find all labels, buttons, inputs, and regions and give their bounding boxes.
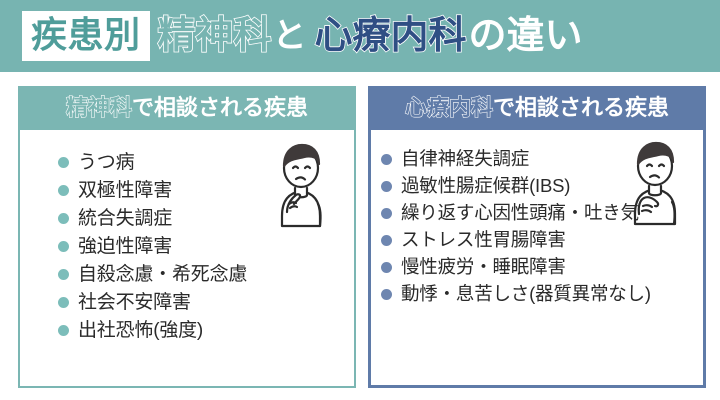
- list-item[interactable]: 慢性疲労・睡眠障害: [381, 254, 703, 281]
- panel-psychiatry-header-rest: で相談される疾患: [132, 97, 308, 119]
- panel-psychiatry-body: うつ病 双極性障害 統合失調症 強迫性障害 自殺念慮・希死念慮: [18, 130, 356, 388]
- list-item[interactable]: 統合失調症: [58, 204, 354, 232]
- list-item[interactable]: 過敏性腸症候群(IBS): [381, 173, 703, 200]
- panel-psychosomatic: 心療内科 で相談される疾患: [368, 86, 706, 388]
- title-word-difference: の違い: [469, 17, 583, 55]
- bullet-icon: [58, 213, 69, 224]
- title-band: 疾患別 精神科 と 心療内科 の違い: [0, 0, 720, 72]
- list-item[interactable]: 自律神経失調症: [381, 146, 703, 173]
- panel-psychiatry-header: 精神科 で相談される疾患: [18, 86, 356, 130]
- list-item[interactable]: 強迫性障害: [58, 232, 354, 260]
- bullet-icon: [58, 157, 69, 168]
- bullet-icon: [381, 181, 392, 192]
- list-item[interactable]: うつ病: [58, 148, 354, 176]
- bullet-icon: [58, 297, 69, 308]
- psychiatry-condition-list: うつ病 双極性障害 統合失調症 強迫性障害 自殺念慮・希死念慮: [20, 130, 354, 344]
- infographic-page: 疾患別 精神科 と 心療内科 の違い 精神科 で相談される疾患: [0, 0, 720, 400]
- list-item[interactable]: 出社恐怖(強度): [58, 316, 354, 344]
- list-item-label: 自殺念慮・希死念慮: [78, 265, 247, 284]
- list-item-label: うつ病: [78, 153, 134, 172]
- list-item[interactable]: 動悸・息苦しさ(器質異常なし): [381, 281, 703, 308]
- bullet-icon: [381, 262, 392, 273]
- list-item-label: 社会不安障害: [78, 293, 191, 312]
- list-item-label: 慢性疲労・睡眠障害: [401, 258, 566, 277]
- list-item-label: 統合失調症: [78, 209, 172, 228]
- bullet-icon: [58, 185, 69, 196]
- bullet-icon: [58, 269, 69, 280]
- psychosomatic-condition-list: 自律神経失調症 過敏性腸症候群(IBS) 繰り返す心因性頭痛・吐き気 ストレス性…: [371, 130, 703, 308]
- list-item-label: 出社恐怖(強度): [78, 321, 203, 340]
- list-item-label: 自律神経失調症: [401, 150, 529, 169]
- list-item-label: 強迫性障害: [78, 237, 172, 256]
- list-item[interactable]: 社会不安障害: [58, 288, 354, 316]
- bullet-icon: [58, 241, 69, 252]
- list-item[interactable]: ストレス性胃腸障害: [381, 227, 703, 254]
- panel-psychosomatic-header: 心療内科 で相談される疾患: [368, 86, 706, 130]
- list-item[interactable]: 自殺念慮・希死念慮: [58, 260, 354, 288]
- list-item-label: 動悸・息苦しさ(器質異常なし): [401, 285, 651, 304]
- title-category-chip: 疾患別: [22, 11, 150, 61]
- list-item-label: 繰り返す心因性頭痛・吐き気: [401, 204, 639, 223]
- bullet-icon: [381, 289, 392, 300]
- title-word-psychosomatic: 心療内科: [315, 17, 467, 55]
- bullet-icon: [381, 208, 392, 219]
- list-item[interactable]: 繰り返す心因性頭痛・吐き気: [381, 200, 703, 227]
- panel-psychosomatic-header-rest: で相談される疾患: [493, 97, 669, 119]
- bullet-icon: [381, 235, 392, 246]
- panel-psychiatry: 精神科 で相談される疾患: [18, 86, 356, 388]
- title-word-psychiatry: 精神科: [158, 17, 272, 55]
- list-item[interactable]: 双極性障害: [58, 176, 354, 204]
- panel-psychosomatic-body: 自律神経失調症 過敏性腸症候群(IBS) 繰り返す心因性頭痛・吐き気 ストレス性…: [368, 130, 706, 388]
- bullet-icon: [58, 325, 69, 336]
- panel-psychosomatic-header-highlight: 心療内科: [405, 97, 493, 119]
- panel-psychiatry-header-highlight: 精神科: [66, 97, 132, 119]
- list-item-label: 双極性障害: [78, 181, 172, 200]
- title-word-conjunction: と: [273, 19, 307, 53]
- list-item-label: 過敏性腸症候群(IBS): [401, 177, 570, 196]
- list-item-label: ストレス性胃腸障害: [401, 231, 566, 250]
- bullet-icon: [381, 154, 392, 165]
